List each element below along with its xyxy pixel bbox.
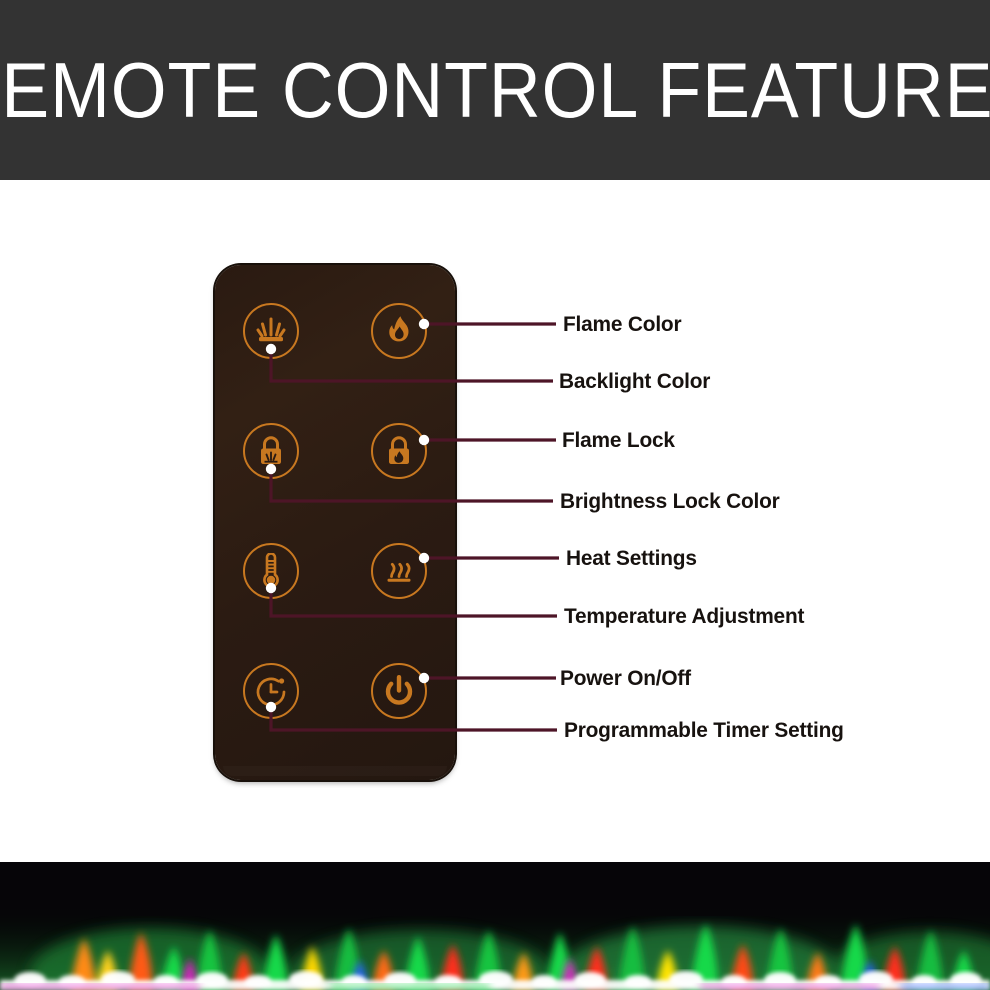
clock-timer-icon xyxy=(253,673,289,709)
power-icon xyxy=(383,674,415,708)
remote-button-backlight-color[interactable] xyxy=(243,303,299,359)
remote-button-heat-settings[interactable] xyxy=(371,543,427,599)
remote-button-flame-color[interactable] xyxy=(371,303,427,359)
remote-button-power[interactable] xyxy=(371,663,427,719)
remote-button-timer[interactable] xyxy=(243,663,299,719)
remote-button-temperature[interactable] xyxy=(243,543,299,599)
flame-lock-icon xyxy=(383,434,415,468)
flame-icon xyxy=(384,315,414,347)
main-content-panel xyxy=(0,180,990,862)
callout-label-timer: Programmable Timer Setting xyxy=(564,718,844,743)
callout-label-temperature: Temperature Adjustment xyxy=(564,604,804,629)
remote-button-flame-lock[interactable] xyxy=(371,423,427,479)
callout-label-power: Power On/Off xyxy=(560,666,691,691)
callout-label-backlight-color: Backlight Color xyxy=(559,369,710,394)
remote-control-body xyxy=(215,265,455,780)
heat-waves-icon xyxy=(382,555,416,587)
callout-label-flame-color: Flame Color xyxy=(563,312,681,337)
callout-label-brightness-lock: Brightness Lock Color xyxy=(560,489,780,514)
callout-label-heat-settings: Heat Settings xyxy=(566,546,697,571)
page-title: REMOTE CONTROL FEATURES xyxy=(0,51,990,129)
backlight-crown-icon xyxy=(254,314,288,348)
brightness-lock-icon xyxy=(255,434,287,468)
header-bar: REMOTE CONTROL FEATURES xyxy=(0,0,990,180)
flame-graphic xyxy=(0,862,990,990)
remote-button-brightness-lock[interactable] xyxy=(243,423,299,479)
flame-bed-photo xyxy=(0,862,990,990)
thermometer-icon xyxy=(258,553,284,589)
callout-label-flame-lock: Flame Lock xyxy=(562,428,675,453)
